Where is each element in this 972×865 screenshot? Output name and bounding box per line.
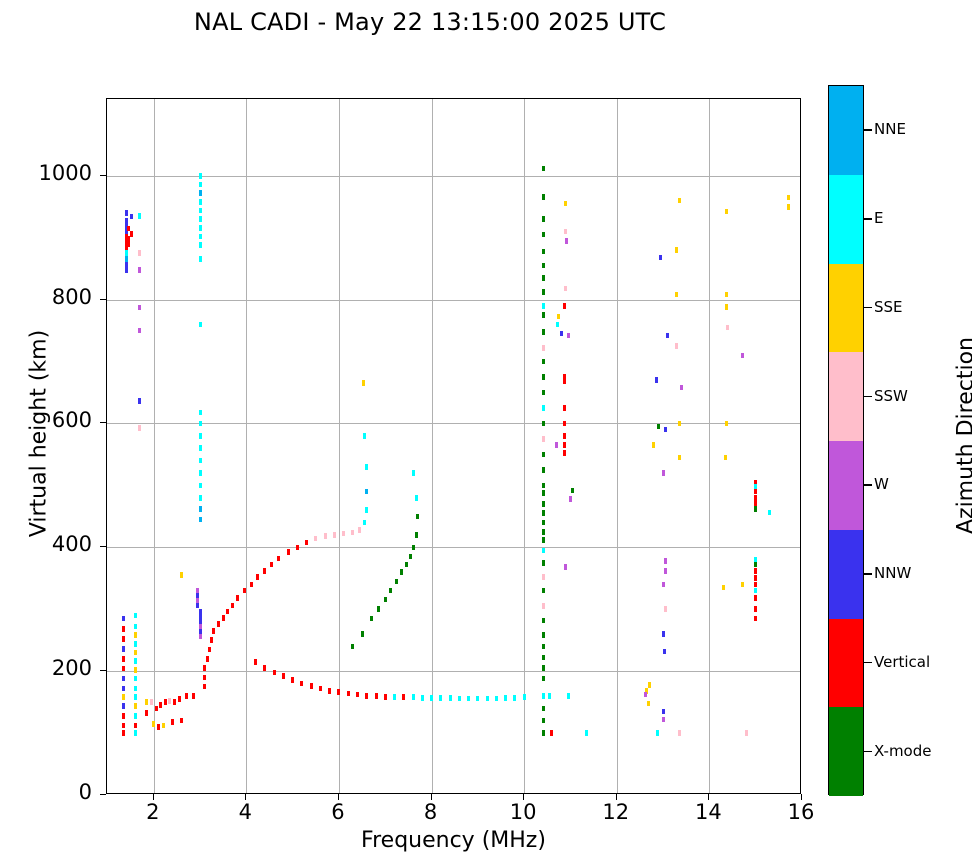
gridline-vertical bbox=[617, 99, 618, 793]
data-point bbox=[122, 616, 125, 622]
data-point bbox=[563, 442, 566, 448]
data-point bbox=[296, 545, 299, 551]
data-point bbox=[412, 694, 415, 700]
y-axis-tick bbox=[100, 422, 106, 423]
data-point bbox=[542, 421, 545, 427]
data-point bbox=[199, 517, 202, 523]
data-point bbox=[560, 331, 563, 337]
data-point bbox=[134, 624, 137, 630]
data-point bbox=[199, 182, 202, 188]
data-point bbox=[134, 713, 137, 719]
data-point bbox=[787, 195, 790, 201]
data-point bbox=[486, 696, 489, 702]
data-point bbox=[415, 495, 418, 501]
data-point bbox=[449, 695, 452, 701]
data-point bbox=[542, 693, 545, 699]
data-point bbox=[134, 676, 137, 682]
data-point bbox=[542, 263, 545, 269]
data-point bbox=[208, 647, 211, 653]
data-point bbox=[412, 470, 415, 476]
x-axis-tick-label: 16 bbox=[771, 800, 831, 824]
data-point bbox=[122, 723, 125, 729]
data-point bbox=[337, 689, 340, 695]
data-point bbox=[648, 682, 651, 688]
data-point bbox=[542, 405, 545, 411]
data-point bbox=[199, 433, 202, 439]
data-point bbox=[787, 204, 790, 210]
data-point bbox=[412, 545, 415, 551]
data-point bbox=[134, 650, 137, 656]
gridline-horizontal bbox=[107, 176, 800, 177]
y-axis-tick bbox=[100, 175, 106, 176]
data-point bbox=[314, 536, 317, 542]
data-point bbox=[542, 490, 545, 496]
data-point bbox=[122, 626, 125, 632]
data-point bbox=[542, 390, 545, 396]
data-point bbox=[585, 730, 588, 736]
x-axis-tick-label: 10 bbox=[493, 800, 553, 824]
data-point bbox=[754, 582, 757, 588]
data-point bbox=[365, 464, 368, 470]
x-axis-tick-label: 6 bbox=[308, 800, 368, 824]
data-point bbox=[287, 549, 290, 555]
data-point bbox=[542, 166, 545, 172]
data-point bbox=[741, 582, 744, 588]
data-point bbox=[416, 514, 419, 520]
data-point bbox=[256, 574, 259, 580]
data-point bbox=[754, 616, 757, 622]
data-point bbox=[542, 632, 545, 638]
data-point bbox=[171, 719, 174, 725]
data-point bbox=[657, 424, 660, 430]
page-title: NAL CADI - May 22 13:15:00 2025 UTC bbox=[0, 8, 860, 36]
data-point bbox=[226, 609, 229, 615]
data-point bbox=[122, 666, 125, 672]
gridline-vertical bbox=[524, 99, 525, 793]
data-point bbox=[134, 730, 137, 736]
data-point bbox=[199, 234, 202, 240]
data-point bbox=[542, 359, 545, 365]
data-point bbox=[415, 532, 418, 538]
data-point bbox=[754, 588, 757, 594]
data-point bbox=[162, 723, 165, 729]
data-point bbox=[199, 483, 202, 489]
data-point bbox=[754, 495, 757, 501]
data-point bbox=[122, 713, 125, 719]
data-point bbox=[725, 209, 728, 215]
colorbar-segment-e bbox=[829, 175, 863, 264]
data-point bbox=[725, 292, 728, 298]
data-point bbox=[180, 718, 183, 724]
data-point bbox=[138, 328, 141, 334]
data-point bbox=[563, 421, 566, 427]
gridline-vertical bbox=[432, 99, 433, 793]
data-point bbox=[726, 325, 729, 331]
data-point bbox=[263, 665, 266, 671]
data-point bbox=[555, 442, 558, 448]
data-point bbox=[192, 693, 195, 699]
data-point bbox=[664, 427, 667, 433]
data-point bbox=[542, 718, 545, 724]
data-point bbox=[563, 450, 566, 456]
data-point bbox=[122, 646, 125, 652]
gridline-horizontal bbox=[107, 547, 800, 548]
data-point bbox=[400, 569, 403, 575]
y-axis-tick bbox=[100, 299, 106, 300]
data-point bbox=[178, 696, 181, 702]
data-point bbox=[134, 641, 137, 647]
data-point bbox=[569, 496, 572, 502]
data-point bbox=[556, 322, 559, 328]
data-point bbox=[222, 615, 225, 621]
colorbar-tick bbox=[864, 662, 872, 663]
data-point bbox=[199, 322, 202, 328]
data-point bbox=[439, 695, 442, 701]
data-point bbox=[542, 676, 545, 682]
data-point bbox=[567, 333, 570, 339]
data-point bbox=[138, 305, 141, 311]
data-point bbox=[199, 190, 202, 196]
data-point bbox=[127, 242, 130, 248]
data-point bbox=[196, 603, 199, 609]
data-point bbox=[467, 696, 470, 702]
colorbar-segment-w bbox=[829, 441, 863, 530]
data-point bbox=[130, 231, 133, 237]
data-point bbox=[384, 694, 387, 700]
gridline-horizontal bbox=[107, 671, 800, 672]
data-point bbox=[405, 562, 408, 568]
data-point bbox=[662, 582, 665, 588]
colorbar-segment-nne bbox=[829, 86, 863, 175]
y-axis-tick bbox=[100, 670, 106, 671]
data-point bbox=[134, 613, 137, 619]
data-point bbox=[305, 540, 308, 546]
data-point bbox=[217, 621, 220, 627]
data-point bbox=[122, 636, 125, 642]
data-point bbox=[664, 568, 667, 574]
colorbar-segment-vertical bbox=[829, 619, 863, 708]
data-point bbox=[564, 229, 567, 235]
data-point bbox=[741, 353, 744, 359]
data-point bbox=[680, 385, 683, 391]
data-point bbox=[199, 421, 202, 427]
data-point bbox=[130, 214, 133, 220]
data-point bbox=[347, 691, 350, 697]
data-point bbox=[203, 665, 206, 671]
data-point bbox=[159, 702, 162, 708]
data-point bbox=[768, 510, 771, 516]
data-point bbox=[754, 489, 757, 495]
data-point bbox=[134, 658, 137, 664]
colorbar-tick-label: X-mode bbox=[874, 742, 931, 760]
data-point bbox=[664, 558, 667, 564]
data-point bbox=[328, 688, 331, 694]
colorbar-tick bbox=[864, 129, 872, 130]
data-point bbox=[725, 421, 728, 427]
data-point bbox=[377, 606, 380, 612]
data-point bbox=[542, 655, 545, 661]
colorbar-tick-label: SSE bbox=[874, 298, 903, 316]
data-point bbox=[122, 730, 125, 736]
data-point bbox=[351, 530, 354, 536]
data-point bbox=[138, 425, 141, 431]
data-point bbox=[745, 730, 748, 736]
data-point bbox=[754, 575, 757, 581]
data-point bbox=[199, 256, 202, 262]
data-point bbox=[199, 506, 202, 512]
data-point bbox=[542, 537, 545, 543]
data-point bbox=[243, 588, 246, 594]
colorbar-tick bbox=[864, 218, 872, 219]
data-point bbox=[300, 681, 303, 687]
data-point bbox=[125, 210, 128, 216]
data-point bbox=[542, 520, 545, 526]
x-axis-tick-label: 14 bbox=[678, 800, 738, 824]
data-point bbox=[564, 564, 567, 570]
data-point bbox=[134, 667, 137, 673]
data-point bbox=[199, 495, 202, 501]
data-point bbox=[263, 568, 266, 574]
data-point bbox=[152, 721, 155, 727]
data-point bbox=[563, 405, 566, 411]
data-point bbox=[138, 267, 141, 273]
data-point bbox=[231, 603, 234, 609]
data-point bbox=[542, 289, 545, 295]
data-point bbox=[542, 588, 545, 594]
data-point bbox=[168, 698, 171, 704]
data-point bbox=[319, 686, 322, 692]
colorbar-tick-label: E bbox=[874, 209, 883, 227]
data-point bbox=[659, 255, 662, 261]
x-axis-label: Frequency (MHz) bbox=[106, 828, 801, 853]
data-point bbox=[342, 531, 345, 537]
data-point bbox=[644, 692, 647, 698]
data-point bbox=[565, 238, 568, 244]
data-point bbox=[678, 198, 681, 204]
data-point bbox=[542, 644, 545, 650]
data-point bbox=[563, 379, 566, 385]
data-point bbox=[675, 343, 678, 349]
colorbar-segment-sse bbox=[829, 264, 863, 353]
data-point bbox=[542, 216, 545, 222]
data-point bbox=[542, 303, 545, 309]
data-point bbox=[365, 693, 368, 699]
colorbar-tick-label: W bbox=[874, 475, 889, 493]
data-point bbox=[356, 692, 359, 698]
colorbar-tick bbox=[864, 573, 872, 574]
data-point bbox=[358, 527, 361, 533]
data-point bbox=[282, 673, 285, 679]
colorbar-segment-ssw bbox=[829, 352, 863, 441]
data-point bbox=[125, 267, 128, 273]
colorbar-tick bbox=[864, 307, 872, 308]
data-point bbox=[548, 693, 551, 699]
data-point bbox=[134, 723, 137, 729]
data-point bbox=[291, 677, 294, 683]
data-point bbox=[203, 675, 206, 681]
data-point bbox=[134, 703, 137, 709]
data-point bbox=[663, 649, 666, 655]
colorbar-tick-label: NNE bbox=[874, 120, 906, 138]
data-point bbox=[185, 693, 188, 699]
data-point bbox=[199, 225, 202, 231]
colorbar bbox=[828, 85, 864, 795]
data-point bbox=[542, 312, 545, 318]
gridline-vertical bbox=[154, 99, 155, 793]
data-point bbox=[675, 247, 678, 253]
colorbar-tick bbox=[864, 484, 872, 485]
data-point bbox=[155, 706, 158, 712]
data-point bbox=[365, 489, 368, 495]
data-point bbox=[421, 695, 424, 701]
data-point bbox=[542, 501, 545, 507]
data-point bbox=[164, 699, 167, 705]
data-point bbox=[662, 470, 665, 476]
data-point bbox=[363, 520, 366, 526]
gridline-vertical bbox=[709, 99, 710, 793]
data-point bbox=[542, 510, 545, 516]
data-point bbox=[678, 730, 681, 736]
x-axis-tick-label: 4 bbox=[215, 800, 275, 824]
y-axis-tick bbox=[100, 794, 106, 795]
data-point bbox=[363, 433, 366, 439]
data-point bbox=[542, 483, 545, 489]
x-axis-tick-label: 12 bbox=[586, 800, 646, 824]
data-point bbox=[542, 194, 545, 200]
data-point bbox=[564, 286, 567, 292]
data-point bbox=[678, 421, 681, 427]
data-point bbox=[250, 582, 253, 588]
ionogram-figure: NAL CADI - May 22 13:15:00 2025 UTC 2468… bbox=[0, 0, 972, 865]
data-point bbox=[542, 529, 545, 535]
data-point bbox=[138, 250, 141, 256]
data-point bbox=[542, 452, 545, 458]
data-point bbox=[122, 694, 125, 700]
data-point bbox=[662, 717, 665, 723]
data-point bbox=[122, 656, 125, 662]
data-point bbox=[389, 588, 392, 594]
data-point bbox=[550, 730, 553, 736]
data-point bbox=[542, 436, 545, 442]
data-point bbox=[655, 377, 658, 383]
data-point bbox=[754, 562, 757, 568]
data-point bbox=[134, 686, 137, 692]
data-point bbox=[542, 232, 545, 238]
data-point bbox=[722, 585, 725, 591]
data-point bbox=[571, 488, 574, 494]
gridline-vertical bbox=[246, 99, 247, 793]
data-point bbox=[199, 242, 202, 248]
data-point bbox=[199, 208, 202, 214]
data-point bbox=[563, 303, 566, 309]
colorbar-tick bbox=[864, 396, 872, 397]
data-point bbox=[384, 597, 387, 603]
data-point bbox=[430, 695, 433, 701]
colorbar-segment-nnw bbox=[829, 530, 863, 619]
data-point bbox=[393, 694, 396, 700]
data-point bbox=[138, 398, 141, 404]
data-point bbox=[199, 216, 202, 222]
data-point bbox=[504, 695, 507, 701]
data-point bbox=[675, 292, 678, 298]
data-point bbox=[270, 562, 273, 568]
data-point bbox=[122, 686, 125, 692]
data-point bbox=[362, 380, 365, 386]
data-point bbox=[351, 644, 354, 650]
data-point bbox=[542, 249, 545, 255]
colorbar-segment-x-mode bbox=[829, 707, 863, 796]
data-point bbox=[513, 695, 516, 701]
data-point bbox=[754, 568, 757, 574]
data-point bbox=[666, 333, 669, 339]
data-point bbox=[199, 634, 202, 640]
data-point bbox=[656, 730, 659, 736]
data-point bbox=[542, 548, 545, 554]
data-point bbox=[134, 632, 137, 638]
data-point bbox=[199, 470, 202, 476]
data-point bbox=[122, 703, 125, 709]
data-point bbox=[542, 374, 545, 380]
data-point bbox=[754, 595, 757, 601]
data-point bbox=[395, 579, 398, 585]
data-point bbox=[542, 345, 545, 351]
data-point bbox=[652, 442, 655, 448]
data-point bbox=[664, 606, 667, 612]
colorbar-tick-label: Vertical bbox=[874, 653, 930, 671]
x-axis-tick-label: 2 bbox=[123, 800, 183, 824]
data-point bbox=[254, 659, 257, 665]
data-point bbox=[310, 683, 313, 689]
data-point bbox=[212, 628, 215, 634]
colorbar-tick-label: SSW bbox=[874, 387, 908, 405]
data-point bbox=[402, 694, 405, 700]
data-point bbox=[725, 304, 728, 310]
data-point bbox=[724, 455, 727, 461]
data-point bbox=[370, 616, 373, 622]
data-point bbox=[557, 314, 560, 320]
colorbar-label: Azimuth Direction bbox=[954, 276, 972, 596]
data-point bbox=[180, 572, 183, 578]
data-point bbox=[138, 213, 141, 219]
data-point bbox=[150, 699, 153, 705]
data-point bbox=[542, 706, 545, 712]
data-point bbox=[173, 699, 176, 705]
data-point bbox=[542, 275, 545, 281]
plot-area bbox=[106, 98, 801, 794]
data-point bbox=[375, 693, 378, 699]
gridline-horizontal bbox=[107, 300, 800, 301]
data-point bbox=[542, 730, 545, 736]
data-point bbox=[199, 445, 202, 451]
data-point bbox=[273, 670, 276, 676]
data-point bbox=[678, 455, 681, 461]
data-point bbox=[333, 532, 336, 538]
data-point bbox=[361, 631, 364, 637]
data-point bbox=[523, 694, 526, 700]
data-point bbox=[754, 506, 757, 512]
data-point bbox=[542, 665, 545, 671]
data-point bbox=[564, 201, 567, 207]
data-point bbox=[122, 676, 125, 682]
data-point bbox=[662, 709, 665, 715]
data-point bbox=[210, 637, 213, 643]
data-point bbox=[324, 533, 327, 539]
data-point bbox=[145, 699, 148, 705]
data-point bbox=[542, 467, 545, 473]
data-point bbox=[199, 173, 202, 179]
data-point bbox=[365, 507, 368, 513]
data-point bbox=[495, 696, 498, 702]
